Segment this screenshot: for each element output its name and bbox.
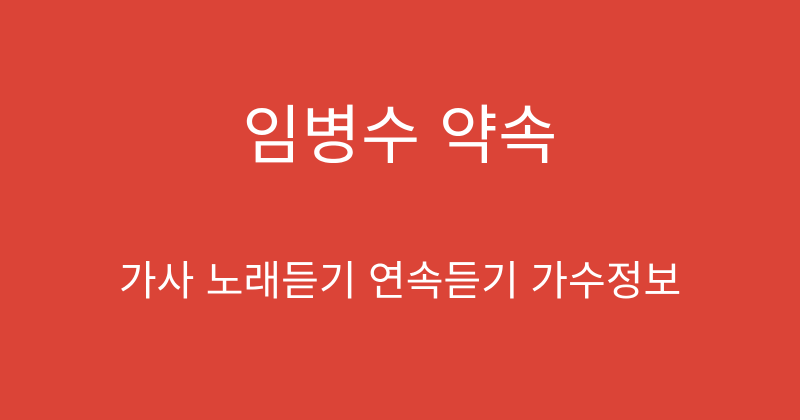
song-banner: 임병수 약속 가사 노래듣기 연속듣기 가수정보 bbox=[0, 0, 800, 420]
link-separator bbox=[194, 258, 205, 304]
link-lyrics[interactable]: 가사 bbox=[119, 258, 194, 304]
page-title: 임병수 약속 bbox=[242, 104, 557, 168]
link-separator bbox=[519, 258, 530, 304]
link-separator bbox=[357, 258, 368, 304]
subtitle-line: 가사 노래듣기 연속듣기 가수정보 bbox=[119, 261, 681, 302]
link-listen[interactable]: 노래듣기 bbox=[206, 258, 357, 304]
link-continuous-play[interactable]: 연속듣기 bbox=[368, 258, 519, 304]
banner-title-area: 임병수 약속 bbox=[0, 0, 800, 200]
link-artist-info[interactable]: 가수정보 bbox=[530, 258, 681, 304]
banner-link-row: 가사 노래듣기 연속듣기 가수정보 bbox=[0, 246, 800, 316]
